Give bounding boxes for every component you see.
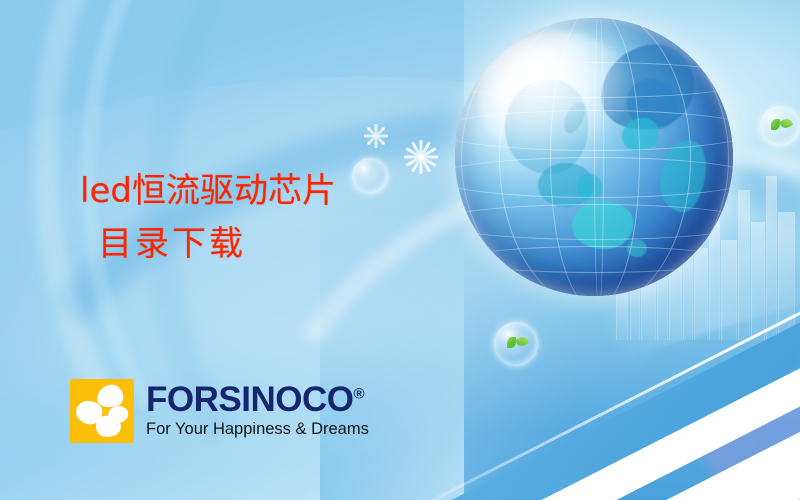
brand-tagline: For Your Happiness & Dreams: [146, 420, 369, 440]
green-leaf-icon-right: [771, 117, 789, 135]
brand-name-text: FORSINOCO: [146, 380, 353, 419]
registered-trademark-icon: ®: [353, 385, 364, 402]
bubble-leaf-right: [760, 106, 800, 146]
brand-text-block: FORSINOCO® For Your Happiness & Dreams: [146, 382, 369, 440]
headline-line-2: 目录下载: [98, 218, 336, 271]
page-title: led恒流驱动芯片 目录下载: [80, 165, 336, 270]
brand-logo: FORSINOCO® For Your Happiness & Dreams: [70, 379, 369, 443]
forsinoco-flower-icon: [70, 379, 134, 443]
bubble-globe-small: [352, 158, 388, 194]
bubble-leaf-center: [494, 322, 538, 366]
earth-globe: [455, 18, 733, 296]
slide-canvas: led恒流驱动芯片 目录下载 FORSINOCO® For Your Happi…: [0, 0, 800, 500]
green-leaf-icon: [507, 335, 525, 353]
brand-name: FORSINOCO®: [146, 382, 369, 417]
headline-line-1: led恒流驱动芯片: [80, 171, 336, 211]
